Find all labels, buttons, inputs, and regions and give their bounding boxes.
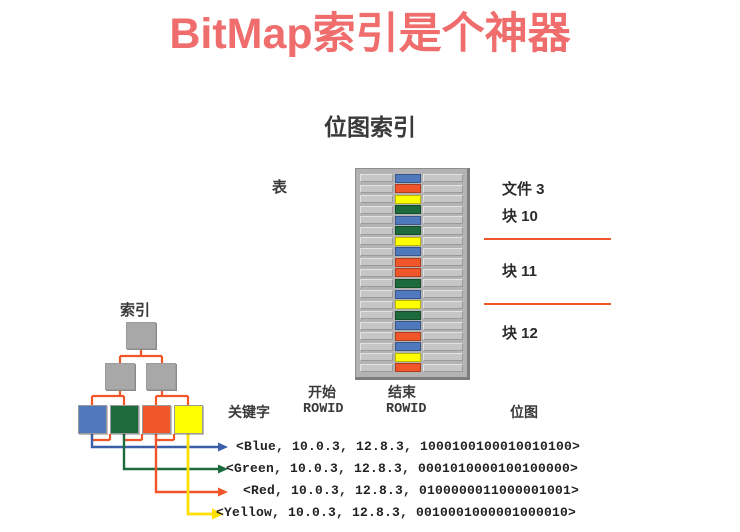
index-leaf-red	[142, 405, 171, 434]
index-leaf-green	[110, 405, 139, 434]
bitmap-row-green: <Green, 10.0.3, 12.8.3, 0001010000100100…	[226, 461, 578, 476]
table-cell-yellow	[395, 300, 421, 309]
label-block-11: 块 11	[502, 260, 537, 281]
table-cell-right	[423, 279, 463, 287]
table-cell-yellow	[395, 195, 421, 204]
table-cell-right	[423, 290, 463, 298]
table-row	[360, 237, 463, 245]
table-cell-left	[360, 364, 393, 372]
table-cell-right	[423, 227, 463, 235]
table-cell-left	[360, 216, 393, 224]
table-row	[360, 206, 463, 214]
table-row	[360, 353, 463, 361]
block-divider-upper	[484, 238, 611, 240]
table-row	[360, 364, 463, 372]
bitmap-row-blue: <Blue, 10.0.3, 12.8.3, 10001001000100101…	[236, 439, 580, 454]
table-cell-right	[423, 311, 463, 319]
table-row	[360, 174, 463, 182]
index-tree-root-node	[126, 322, 156, 349]
header-end-cn: 结束	[388, 382, 416, 402]
table-row	[360, 269, 463, 277]
table-cell-right	[423, 322, 463, 330]
table-cell-left	[360, 237, 393, 245]
table-row	[360, 248, 463, 256]
table-cell-left	[360, 353, 393, 361]
table-cell-red	[395, 258, 421, 267]
table-cell-left	[360, 206, 393, 214]
table-cell-red	[395, 332, 421, 341]
table-cell-right	[423, 174, 463, 182]
table-cell-left	[360, 301, 393, 309]
header-keyword: 关键字	[228, 402, 270, 422]
table-cell-left	[360, 227, 393, 235]
table-cell-right	[423, 364, 463, 372]
index-tree-branch-node-right	[146, 363, 176, 390]
bitmap-row-red: <Red, 10.0.3, 12.8.3, 010000001100000100…	[243, 483, 579, 498]
table-row	[360, 343, 463, 351]
bitmap-row-yellow: <Yellow, 10.0.3, 12.8.3, 001000100000100…	[216, 505, 576, 520]
label-file-3: 文件 3	[502, 178, 545, 199]
label-block-10: 块 10	[502, 205, 538, 226]
table-cell-left	[360, 332, 393, 340]
header-bitmap: 位图	[510, 402, 538, 422]
diagram-subtitle: 位图索引	[0, 108, 740, 142]
table-cell-left	[360, 290, 393, 298]
header-end-rowid: ROWID	[386, 402, 427, 417]
table-cell-blue	[395, 342, 421, 351]
table-cell-left	[360, 322, 393, 330]
table-cell-red	[395, 363, 421, 372]
table-row	[360, 279, 463, 287]
block-divider-lower	[484, 303, 611, 305]
table-cell-right	[423, 332, 463, 340]
table-row	[360, 311, 463, 319]
table-cell-yellow	[395, 353, 421, 362]
page-title: BitMap索引是个神器	[0, 8, 740, 62]
table-cell-red	[395, 268, 421, 277]
table-cell-right	[423, 353, 463, 361]
table-cell-left	[360, 195, 393, 203]
table-cell-left	[360, 174, 393, 182]
table-cell-left	[360, 311, 393, 319]
table-row	[360, 332, 463, 340]
table-row	[360, 322, 463, 330]
table-cell-red	[395, 184, 421, 193]
table-cell-green	[395, 311, 421, 320]
table-cell-left	[360, 279, 393, 287]
table-row	[360, 258, 463, 266]
table-cell-blue	[395, 216, 421, 225]
table-cell-right	[423, 343, 463, 351]
table-cell-right	[423, 206, 463, 214]
table-cell-green	[395, 205, 421, 214]
table-cell-blue	[395, 247, 421, 256]
index-tree-branch-node-left	[105, 363, 135, 390]
header-start-rowid: ROWID	[303, 402, 344, 417]
table-cell-blue	[395, 174, 421, 183]
table-cell-right	[423, 258, 463, 266]
table-cell-left	[360, 258, 393, 266]
table-cell-right	[423, 248, 463, 256]
table-row	[360, 185, 463, 193]
table-cell-right	[423, 185, 463, 193]
table-cell-left	[360, 248, 393, 256]
table-row	[360, 195, 463, 203]
table-row	[360, 216, 463, 224]
table-cell-right	[423, 237, 463, 245]
index-leaf-blue	[78, 405, 107, 434]
table-cell-green	[395, 226, 421, 235]
table-row	[360, 290, 463, 298]
table-block	[355, 168, 470, 380]
table-cell-blue	[395, 290, 421, 299]
table-row	[360, 301, 463, 309]
table-label: 表	[272, 176, 287, 197]
label-block-12: 块 12	[502, 322, 538, 343]
table-cell-left	[360, 269, 393, 277]
table-cell-yellow	[395, 237, 421, 246]
index-leaf-yellow	[174, 405, 203, 434]
index-label: 索引	[120, 299, 150, 320]
table-cell-left	[360, 343, 393, 351]
table-cell-blue	[395, 321, 421, 330]
table-cell-left	[360, 185, 393, 193]
table-cell-green	[395, 279, 421, 288]
table-row	[360, 227, 463, 235]
header-start-cn: 开始	[308, 382, 336, 402]
table-cell-right	[423, 301, 463, 309]
table-cell-right	[423, 195, 463, 203]
table-cell-right	[423, 216, 463, 224]
table-cell-right	[423, 269, 463, 277]
